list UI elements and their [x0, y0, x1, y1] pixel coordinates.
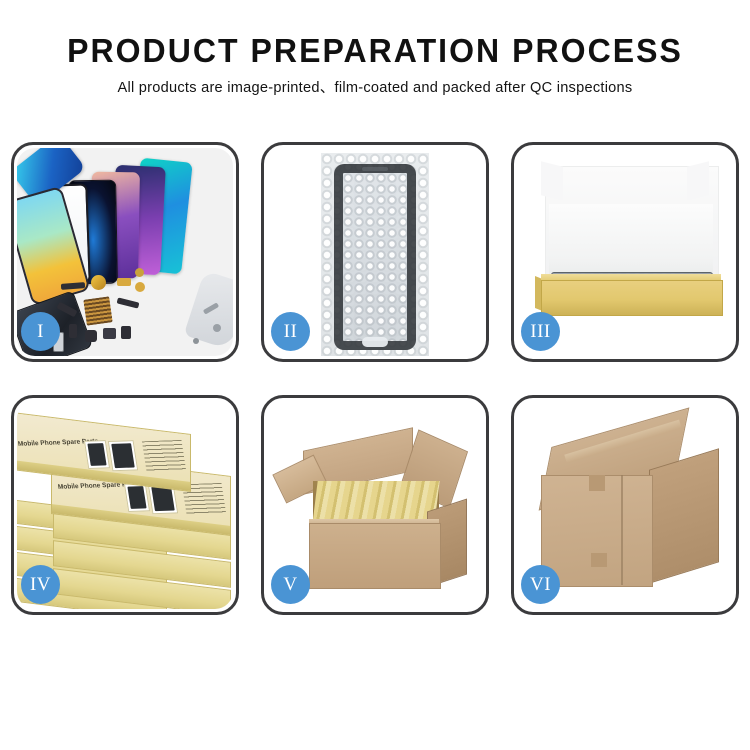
- carton-front-panel-icon: [309, 523, 441, 589]
- screw-icon: [213, 324, 221, 332]
- carton-side-face-icon: [649, 448, 719, 583]
- process-steps-grid: I II: [11, 142, 739, 615]
- process-steps-row-1: I II: [11, 142, 739, 362]
- home-button-icon: [362, 337, 388, 347]
- spare-part-icon: [117, 278, 131, 286]
- step-badge-6: VI: [521, 565, 560, 604]
- spare-part-icon: [121, 326, 131, 339]
- step-badge-4: IV: [21, 565, 60, 604]
- box-lid-left-icon: [541, 161, 563, 200]
- speaker-coil-icon: [91, 275, 106, 290]
- page-subtitle: All products are image-printed、film-coat…: [0, 81, 750, 96]
- flex-cable-icon: [117, 297, 140, 308]
- box-lid-right-icon: [687, 161, 709, 200]
- spare-part-icon: [135, 268, 144, 277]
- step-panel-2[interactable]: II: [261, 142, 489, 362]
- chip-grid-icon: [83, 296, 112, 325]
- page-header: PRODUCT PREPARATION PROCESS All products…: [0, 0, 750, 96]
- box-spec-lines: [142, 440, 186, 472]
- carton-front-face-icon: [541, 475, 653, 587]
- step-panel-4[interactable]: Mobile Phone Spare Parts Mobile Phone Sp…: [11, 395, 239, 615]
- carton-flap-notch-icon: [589, 475, 605, 491]
- foam-insert-icon: [549, 204, 713, 282]
- step-panel-5[interactable]: V: [261, 395, 489, 615]
- process-steps-row-2: Mobile Phone Spare Parts Mobile Phone Sp…: [11, 395, 739, 615]
- step-panel-3[interactable]: III: [511, 142, 739, 362]
- spare-part-icon: [85, 330, 97, 342]
- carton-flap-notch-icon: [591, 553, 607, 567]
- step-badge-3: III: [521, 312, 560, 351]
- screw-icon: [193, 338, 199, 344]
- page-title: PRODUCT PREPARATION PROCESS: [11, 34, 739, 67]
- box-artwork-screen-icon: [84, 440, 110, 469]
- earpiece-slot-icon: [362, 167, 388, 171]
- box-front-panel-icon: [541, 280, 723, 316]
- spare-part-icon: [135, 282, 145, 292]
- step-panel-6[interactable]: VI: [511, 395, 739, 615]
- wrapped-screen-icon: [334, 164, 416, 350]
- step-badge-1: I: [21, 312, 60, 351]
- step-panel-1[interactable]: I: [11, 142, 239, 362]
- box-artwork-screen-icon: [124, 483, 150, 512]
- carton-corner-seam-icon: [621, 475, 623, 585]
- step-badge-2: II: [271, 312, 310, 351]
- box-artwork-screen-icon: [108, 440, 138, 471]
- camera-module-icon: [103, 328, 116, 339]
- spare-part-icon: [69, 324, 77, 338]
- kraft-box-labelled: Mobile Phone Spare Parts: [17, 412, 191, 492]
- step-badge-5: V: [271, 565, 310, 604]
